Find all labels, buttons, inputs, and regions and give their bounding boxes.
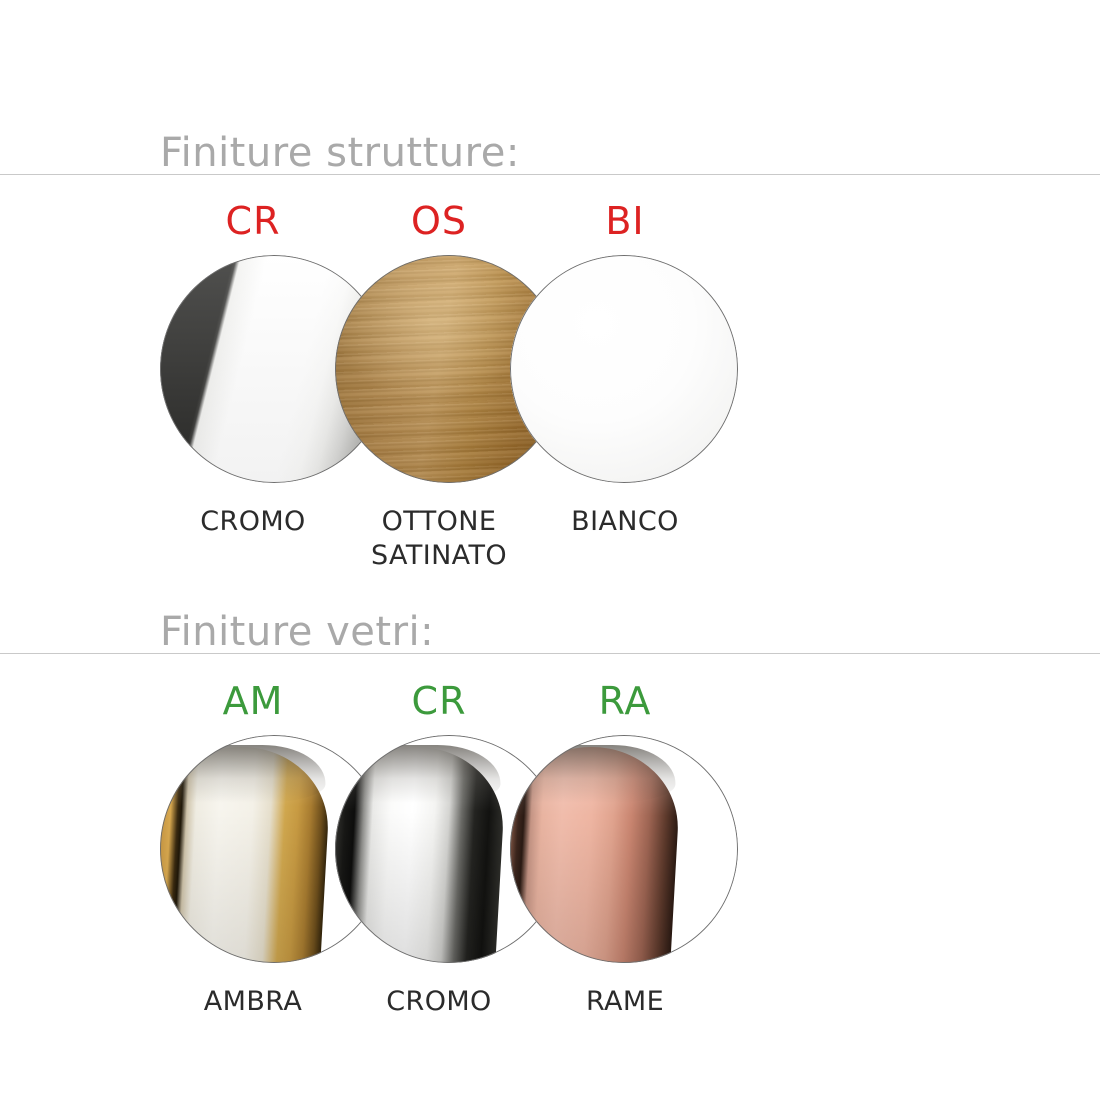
swatch-fill-rame — [510, 735, 738, 963]
section-heading-strutture: Finiture strutture: — [160, 133, 520, 173]
glass-tube-cap — [160, 745, 328, 803]
label-line-1: CROMO — [200, 506, 305, 537]
label-cromo-struttura: CROMO — [160, 505, 346, 539]
label-cromo-vetro: CROMO — [346, 985, 532, 1019]
section-heading-vetri: Finiture vetri: — [160, 612, 434, 652]
code-vetri-ra[interactable]: RA — [532, 678, 718, 724]
code-strutture-bi[interactable]: BI — [532, 198, 718, 244]
code-row-strutture: CR OS BI — [160, 198, 780, 244]
label-line-1: CROMO — [386, 986, 491, 1017]
finishes-page: Finiture strutture: CR OS BI CROMO OTTON… — [0, 0, 1100, 1100]
swatch-row-vetri — [160, 735, 780, 965]
divider-vetri — [0, 653, 1100, 654]
label-line-2: SATINATO — [346, 539, 532, 573]
label-ambra: AMBRA — [160, 985, 346, 1019]
label-line-1: OTTONE — [382, 506, 497, 537]
swatch-bianco[interactable] — [510, 255, 738, 483]
label-bianco: BIANCO — [532, 505, 718, 539]
glass-tube-cap — [510, 745, 678, 803]
code-strutture-cr[interactable]: CR — [160, 198, 346, 244]
label-line-1: AMBRA — [204, 986, 302, 1017]
code-strutture-os[interactable]: OS — [346, 198, 532, 244]
code-vetri-am[interactable]: AM — [160, 678, 346, 724]
swatch-fill-bianco — [510, 255, 738, 483]
code-row-vetri: AM CR RA — [160, 678, 780, 724]
label-line-1: RAME — [586, 986, 664, 1017]
divider-strutture — [0, 174, 1100, 175]
label-line-1: BIANCO — [571, 506, 679, 537]
code-vetri-cr[interactable]: CR — [346, 678, 532, 724]
glass-tube-cap — [335, 745, 503, 803]
swatch-row-strutture — [160, 255, 780, 485]
label-row-vetri: AMBRA CROMO RAME — [160, 985, 780, 1019]
label-row-strutture: CROMO OTTONE SATINATO BIANCO — [160, 505, 780, 573]
label-rame: RAME — [532, 985, 718, 1019]
label-ottone-satinato: OTTONE SATINATO — [346, 505, 532, 573]
swatch-rame[interactable] — [510, 735, 738, 963]
